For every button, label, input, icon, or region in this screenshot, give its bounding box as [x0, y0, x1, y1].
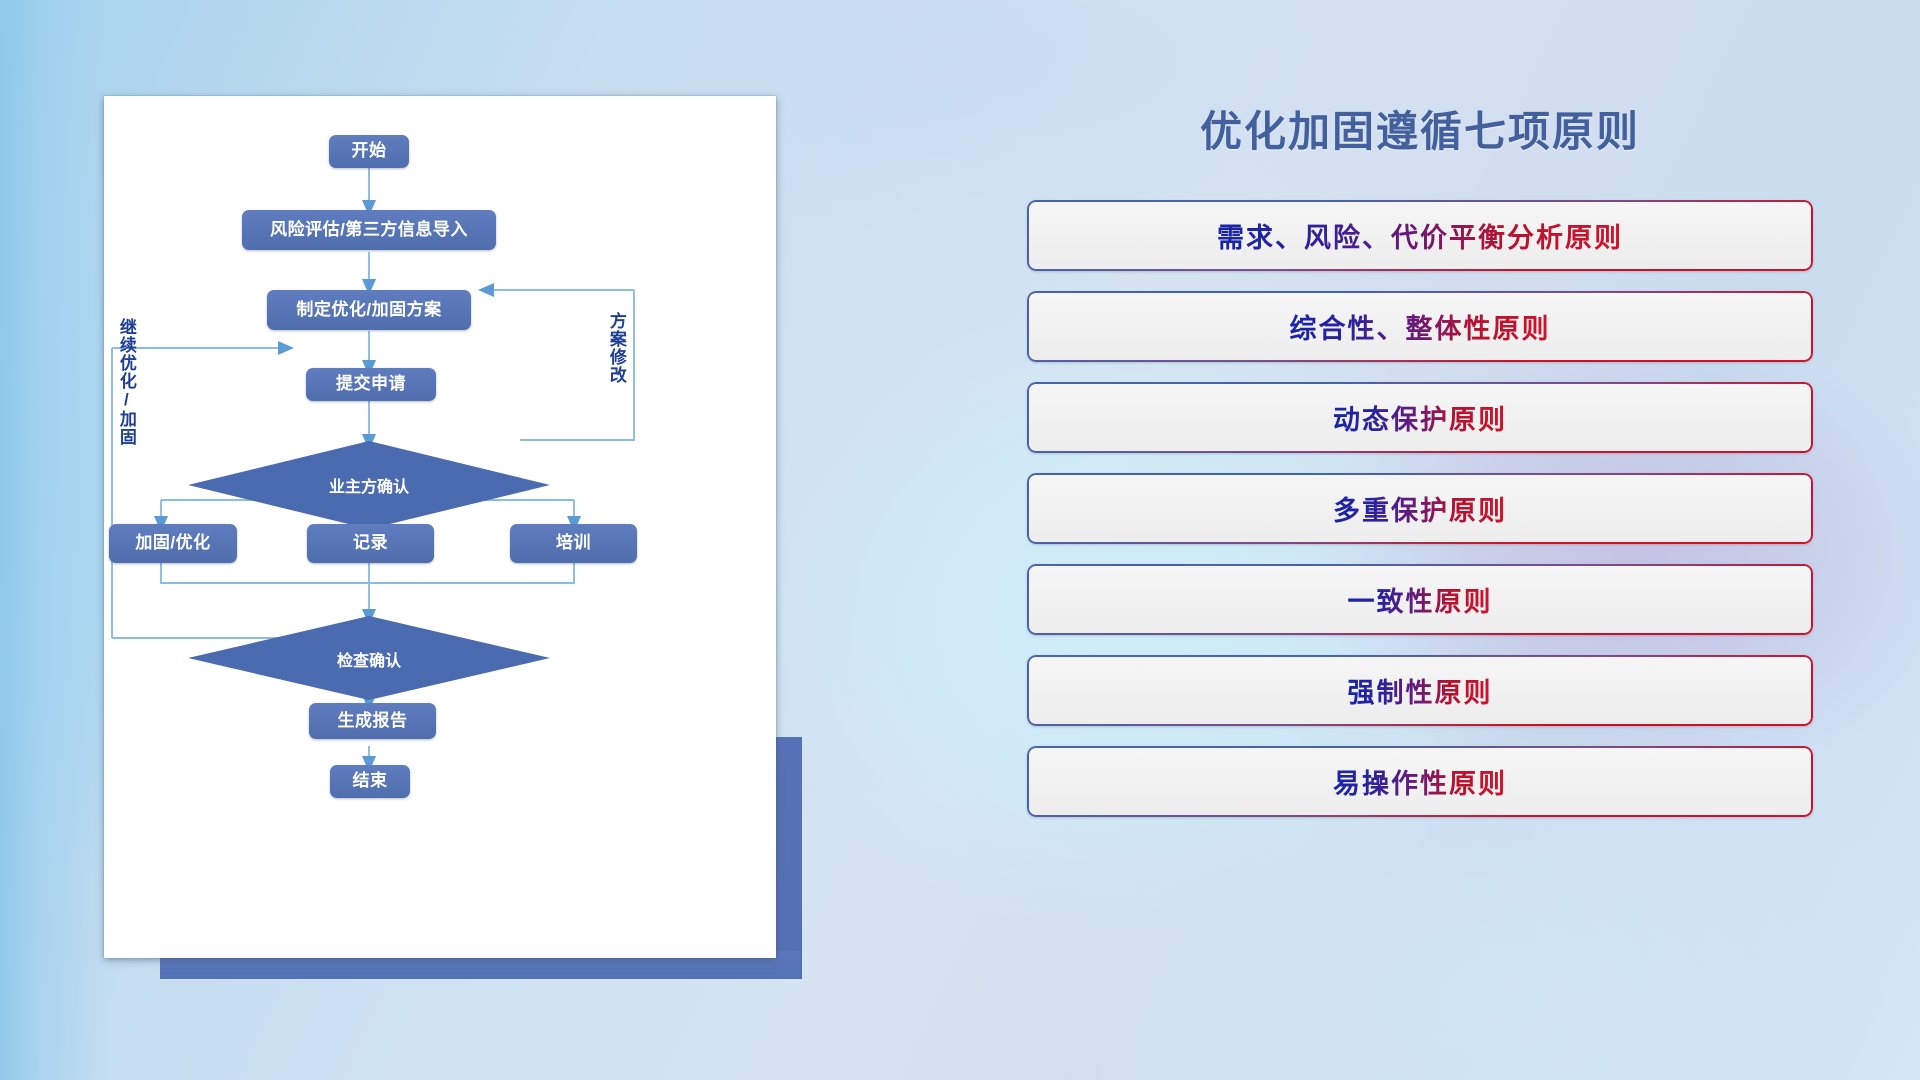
principle-label: 强制性原则 — [1348, 671, 1493, 710]
flow-node-risk-assessment[interactable]: 风险评估/第三方信息导入 — [242, 210, 496, 250]
flowchart-card: 开始 风险评估/第三方信息导入 制定优化/加固方案 提交申请 业主方确认 加固/… — [104, 96, 776, 958]
flow-node-reinforce[interactable]: 加固/优化 — [109, 524, 237, 563]
flow-node-label: 培训 — [556, 534, 591, 553]
flow-node-plan[interactable]: 制定优化/加固方案 — [267, 290, 471, 330]
flow-node-label: 加固/优化 — [135, 534, 210, 553]
flow-node-submit-application[interactable]: 提交申请 — [306, 368, 436, 401]
principle-item-6[interactable]: 强制性原则 — [1027, 655, 1813, 726]
flow-node-training[interactable]: 培训 — [510, 524, 637, 563]
flow-node-generate-report[interactable]: 生成报告 — [309, 703, 436, 739]
principle-label: 多重保护原则 — [1333, 489, 1507, 528]
principle-item-3[interactable]: 动态保护原则 — [1027, 382, 1813, 453]
flow-node-record[interactable]: 记录 — [307, 524, 434, 563]
principle-label: 动态保护原则 — [1333, 398, 1507, 437]
flow-node-label: 提交申请 — [336, 375, 406, 394]
flow-node-end[interactable]: 结束 — [330, 765, 410, 798]
principle-item-4[interactable]: 多重保护原则 — [1027, 473, 1813, 544]
principle-item-2[interactable]: 综合性、整体性原则 — [1027, 291, 1813, 362]
flow-node-label: 制定优化/加固方案 — [296, 301, 441, 320]
edge-label-text: 方案修改 — [607, 312, 626, 384]
flow-node-start[interactable]: 开始 — [329, 135, 409, 168]
principle-label: 综合性、整体性原则 — [1290, 307, 1551, 346]
principle-item-5[interactable]: 一致性原则 — [1027, 564, 1813, 635]
principle-label: 易操作性原则 — [1333, 762, 1507, 801]
principle-label: 一致性原则 — [1348, 580, 1493, 619]
edge-label-continue-optimize: 继续优化/加固 — [117, 318, 135, 458]
principles-panel: 优化加固遵循七项原则 需求、风险、代价平衡分析原则 综合性、整体性原则 动态保护… — [1020, 80, 1820, 1020]
flow-node-label: 开始 — [352, 142, 387, 161]
flow-node-label: 记录 — [353, 534, 388, 553]
principle-item-1[interactable]: 需求、风险、代价平衡分析原则 — [1027, 200, 1813, 271]
edge-label-text: 继续优化/加固 — [117, 318, 136, 446]
flow-node-label: 风险评估/第三方信息导入 — [270, 221, 468, 240]
panel-title: 优化加固遵循七项原则 — [1020, 98, 1820, 159]
principle-label: 需求、风险、代价平衡分析原则 — [1217, 216, 1623, 255]
flow-node-label: 结束 — [353, 772, 388, 791]
edge-label-plan-revision: 方案修改 — [607, 312, 625, 422]
flow-node-label: 生成报告 — [338, 712, 408, 731]
principle-item-7[interactable]: 易操作性原则 — [1027, 746, 1813, 817]
